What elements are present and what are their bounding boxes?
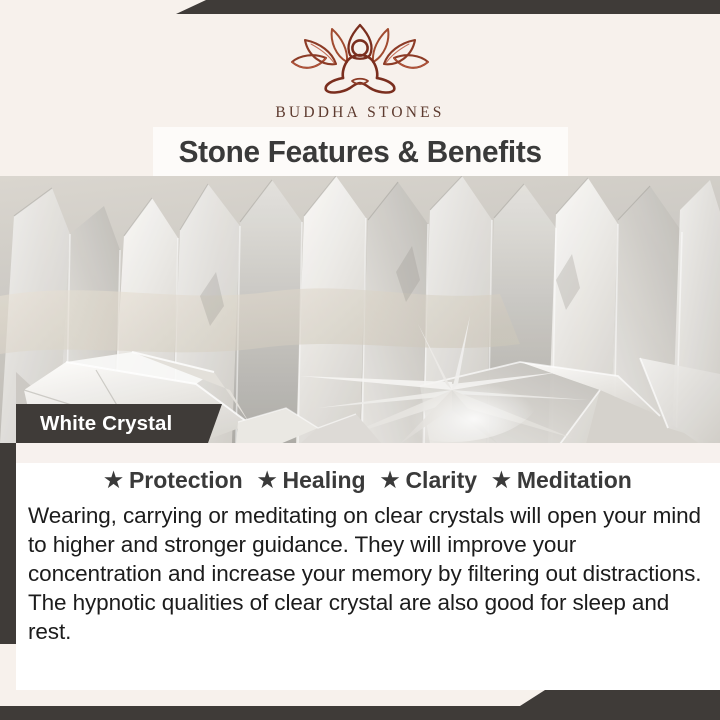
description-text: Wearing, carrying or meditating on clear…	[28, 501, 704, 646]
feature-list: ★ Protection ★ Healing ★ Clarity ★ Medit…	[16, 467, 720, 494]
stone-name-badge: White Crystal	[16, 404, 222, 443]
stone-name-label: White Crystal	[40, 412, 172, 436]
brand-logo: BUDDHA STONES	[0, 22, 720, 122]
divider-strip	[16, 443, 720, 463]
star-icon: ★	[104, 470, 123, 491]
feature-label: Protection	[129, 467, 243, 494]
star-icon: ★	[258, 470, 277, 491]
feature-label: Meditation	[517, 467, 632, 494]
stone-photo	[0, 176, 720, 443]
page-title: Stone Features & Benefits	[179, 134, 542, 170]
feature-item-protection: ★ Protection	[104, 467, 243, 494]
stone-info-card: BUDDHA STONES Stone Features & Benefits	[0, 0, 720, 720]
title-banner: Stone Features & Benefits	[153, 127, 568, 177]
feature-label: Healing	[283, 467, 366, 494]
star-icon: ★	[381, 470, 400, 491]
star-icon: ★	[492, 470, 511, 491]
content-panel: ★ Protection ★ Healing ★ Clarity ★ Medit…	[16, 463, 720, 690]
feature-item-meditation: ★ Meditation	[492, 467, 632, 494]
feature-label: Clarity	[405, 467, 477, 494]
lotus-meditation-icon	[284, 22, 436, 96]
brand-name: BUDDHA STONES	[275, 104, 444, 122]
feature-item-clarity: ★ Clarity	[381, 467, 477, 494]
feature-item-healing: ★ Healing	[258, 467, 366, 494]
